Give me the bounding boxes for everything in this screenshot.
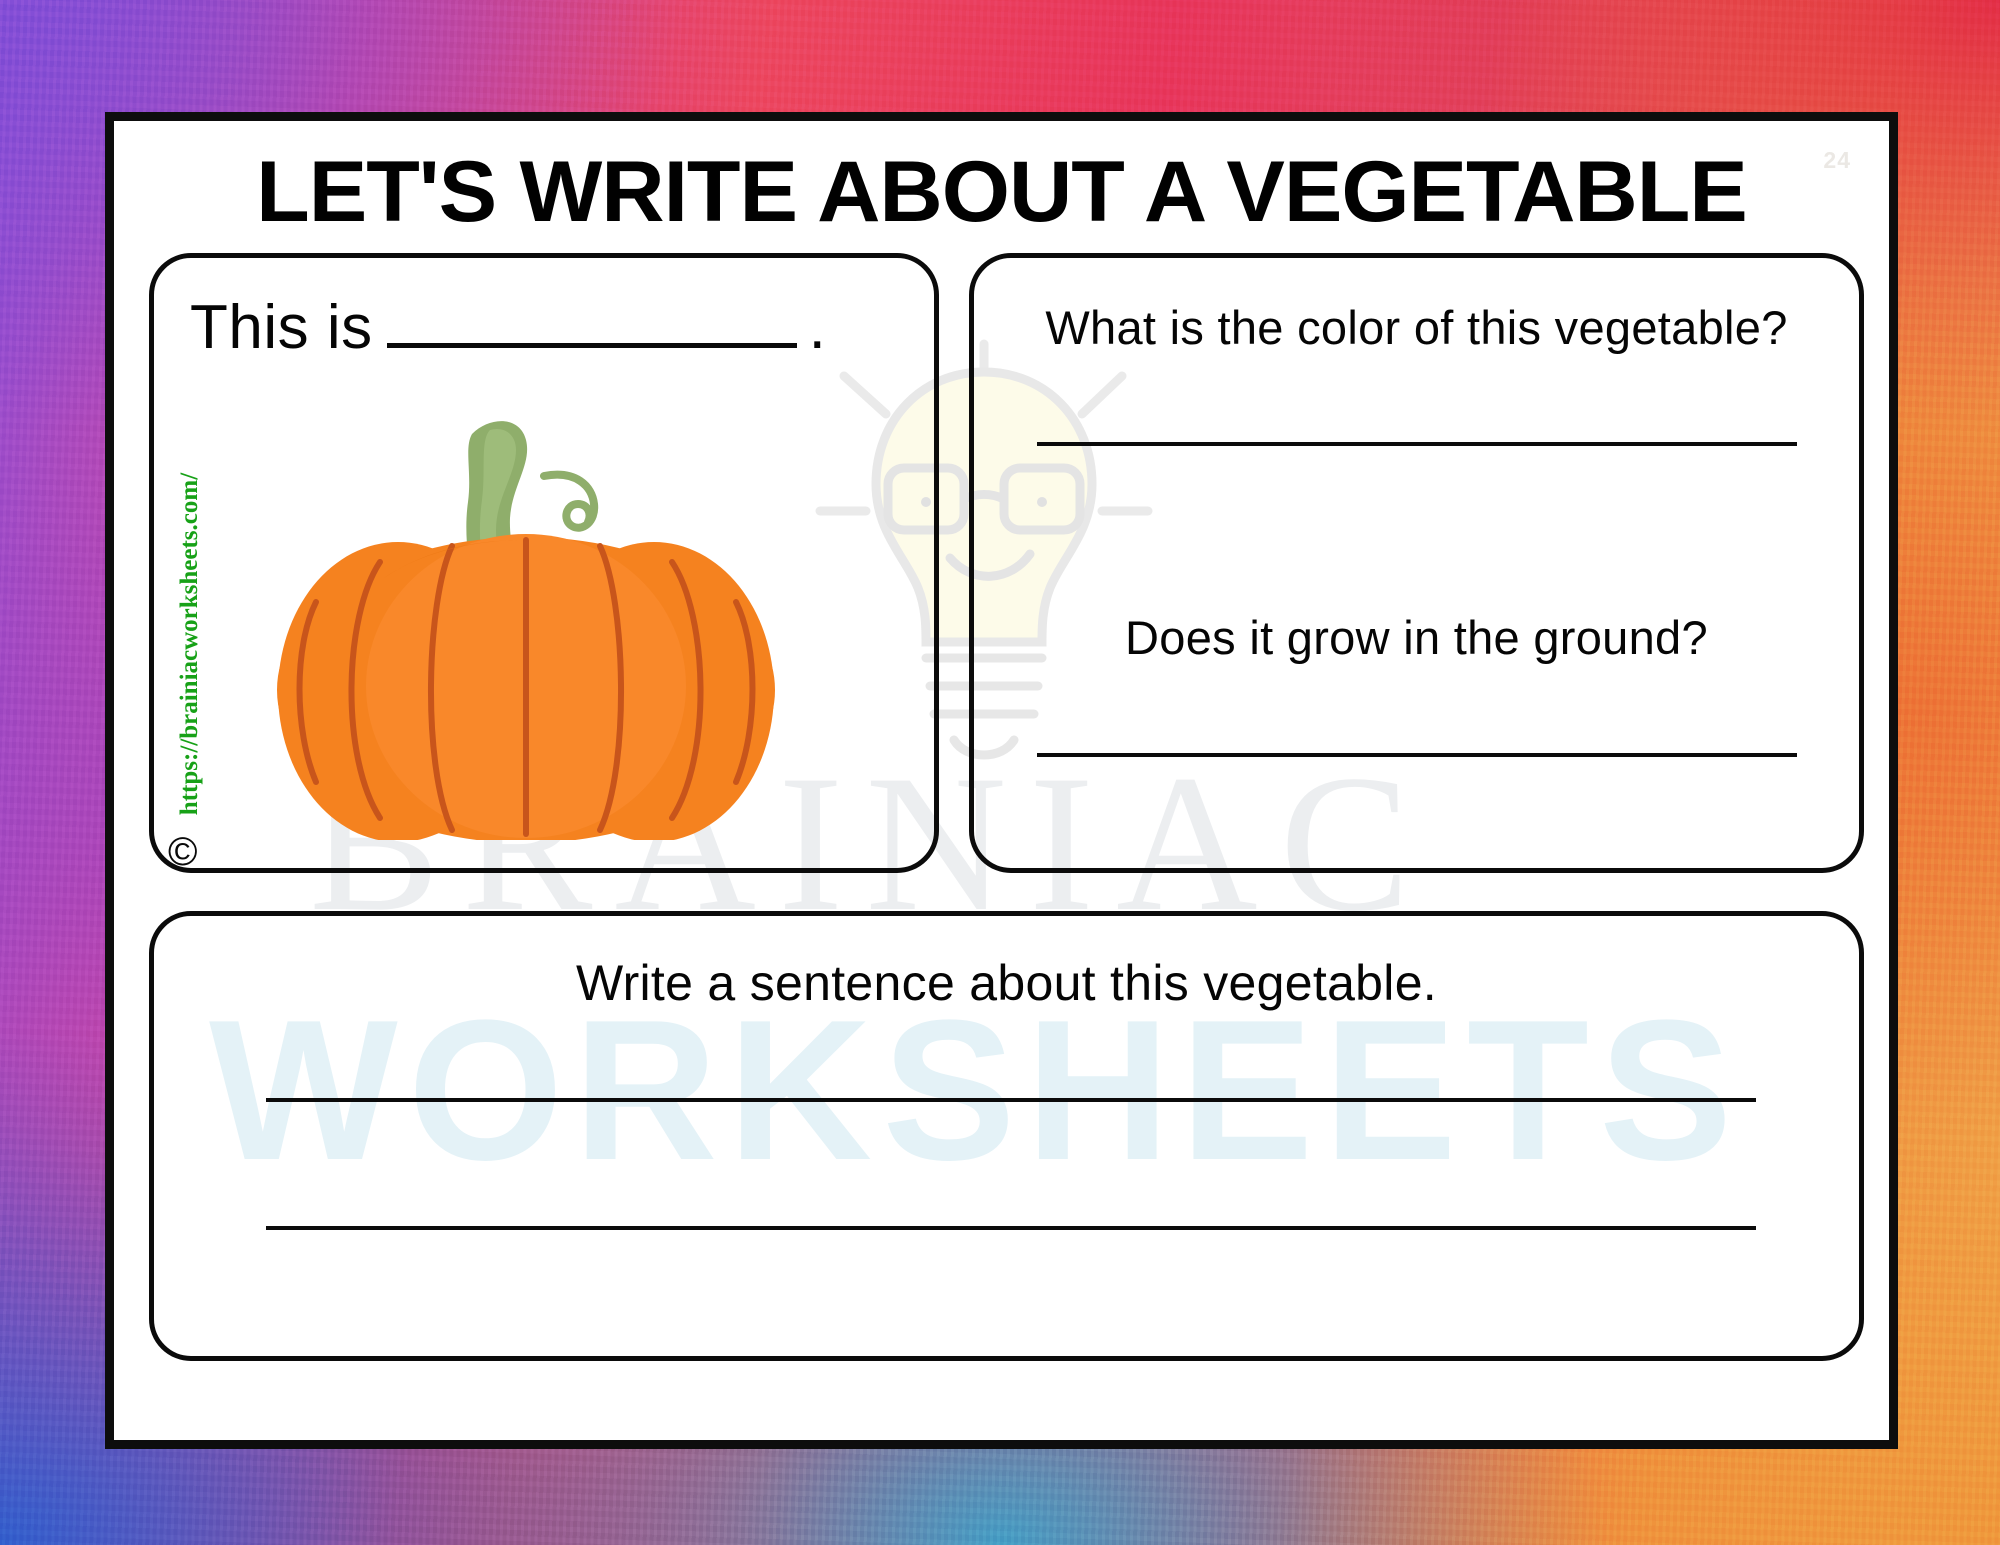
write-sentence-prompt: Write a sentence about this vegetable. [154,954,1859,1012]
worksheet-sheet: 24 BRAINIAC WORKSHEETS [105,112,1898,1449]
write-sentence-card: Write a sentence about this vegetable. [149,911,1864,1361]
questions-card: What is the color of this vegetable? Doe… [969,253,1864,873]
site-url-text: https://brainiacworksheets.com/ [176,466,204,822]
question-ground-label: Does it grow in the ground? [974,610,1859,665]
answer-line-ground[interactable] [1037,753,1797,757]
pumpkin-illustration [276,390,776,840]
site-url-watermark: https://brainiacworksheets.com/ © [160,470,212,840]
sentence-period: . [809,292,827,363]
copyright-icon: © [168,832,197,872]
write-line-2[interactable] [266,1226,1756,1230]
pumpkin-tendril [544,475,594,528]
vegetable-name-blank[interactable] [387,343,797,348]
question-block-ground: Does it grow in the ground? [974,610,1859,757]
question-block-color: What is the color of this vegetable? [974,300,1859,446]
write-line-1[interactable] [266,1098,1756,1102]
question-color-label: What is the color of this vegetable? [974,300,1859,355]
vegetable-name-card: This is . [149,253,939,873]
answer-line-color[interactable] [1037,442,1797,446]
this-is-sentence: This is . [190,292,826,363]
page-title: LET'S WRITE ABOUT A VEGETABLE [96,143,1907,242]
this-is-label: This is [190,292,373,363]
